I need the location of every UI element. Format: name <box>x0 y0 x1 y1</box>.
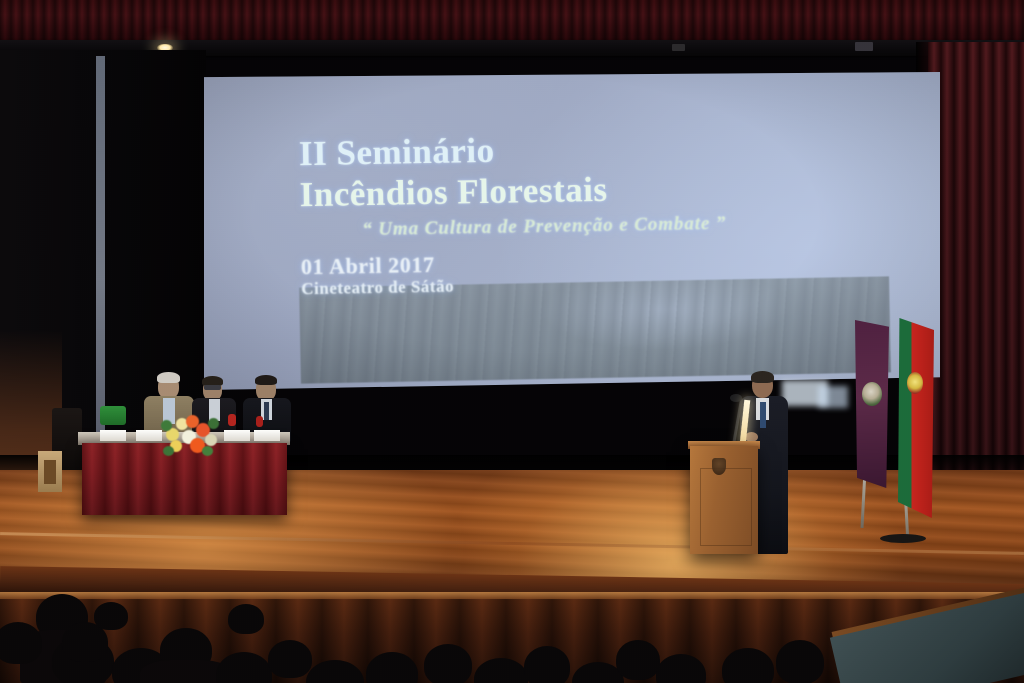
flower-arrangement <box>160 414 222 456</box>
slide-text-block: II Seminário Incêndios Florestais “ Uma … <box>299 123 902 299</box>
portugal-coat-of-arms-icon <box>907 372 923 394</box>
name-card <box>136 430 162 441</box>
truss-fixture-icon <box>855 42 873 51</box>
name-card <box>254 430 280 441</box>
truss-fixture-icon <box>672 44 685 51</box>
speaker-tie <box>760 402 766 428</box>
name-card <box>224 430 250 441</box>
table-microphone <box>228 414 236 426</box>
portugal-flag <box>898 318 934 518</box>
crest-icon <box>712 458 726 475</box>
stage-top-curtain <box>0 0 1024 42</box>
auditorium-scene: II Seminário Incêndios Florestais “ Uma … <box>0 0 1024 683</box>
stage-apron-trim <box>0 592 1024 599</box>
table-microphone <box>256 416 263 427</box>
name-card <box>100 430 126 441</box>
slide-subtitle: “ Uma Cultura de Prevenção e Combate ” <box>362 210 900 241</box>
flag-stand-base <box>880 534 926 543</box>
speaker-hair <box>751 371 774 383</box>
municipal-crest-icon <box>862 382 882 406</box>
floor-sign-panel <box>44 460 56 484</box>
panelist-hair <box>157 372 180 383</box>
panelist-hair <box>255 375 277 385</box>
panelist-glasses-icon <box>204 385 221 390</box>
panelist-tie <box>264 402 269 420</box>
lectern-front-panel <box>700 468 752 546</box>
slide-highlight <box>818 386 848 408</box>
green-chair <box>100 406 126 425</box>
microphone-icon <box>730 394 742 402</box>
